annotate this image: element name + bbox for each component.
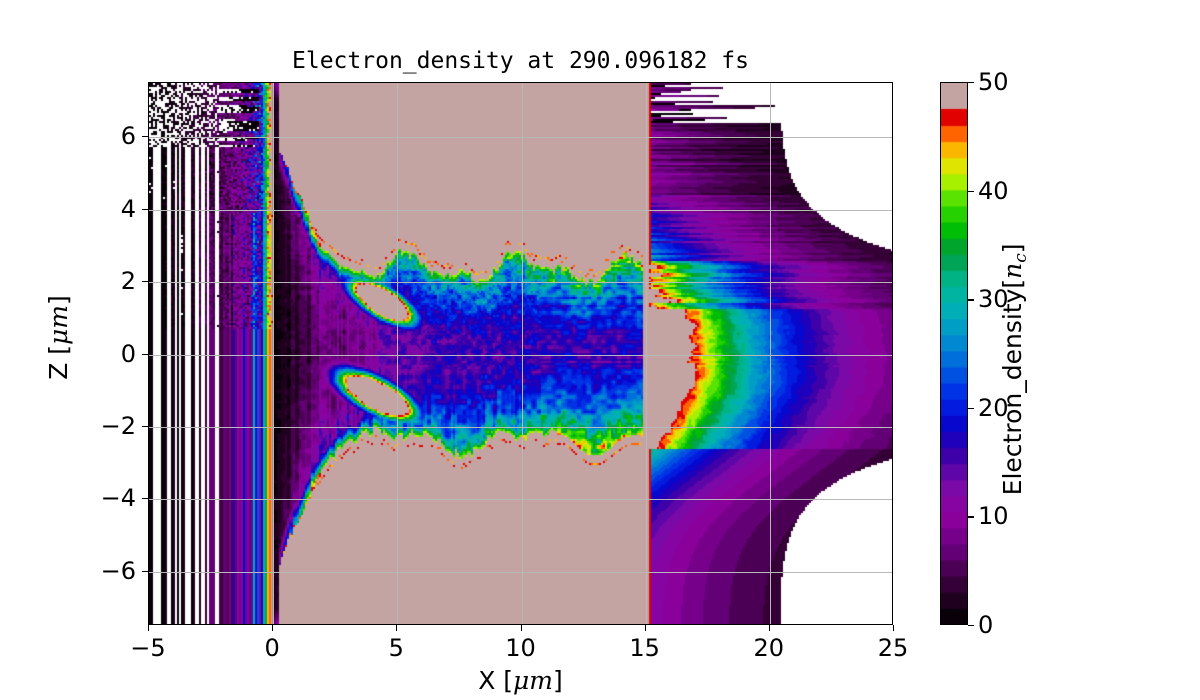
colorbar-tick-mark: [968, 82, 974, 83]
y-tick-mark: [142, 281, 148, 282]
colorbar-label: Electron_density[nc]: [998, 98, 1031, 641]
colorbar-label-symbol: n: [998, 263, 1027, 279]
colorbar-label-subscript: c: [1011, 253, 1031, 263]
x-tick-label: 20: [754, 634, 785, 662]
y-tick-mark: [142, 426, 148, 427]
colorbar-tick-label: 50: [978, 68, 1009, 96]
y-tick-label: 4: [121, 195, 136, 223]
y-tick-label: 6: [121, 122, 136, 150]
y-tick-label: 2: [121, 267, 136, 295]
y-tick-label: 0: [121, 340, 136, 368]
y-axis-label-text: Z [: [44, 345, 73, 380]
y-tick-label: −2: [101, 412, 136, 440]
y-tick-mark: [142, 354, 148, 355]
x-axis-label-text: X [: [478, 666, 513, 695]
density-figure: Electron_density at 290.096182 fs −50510…: [0, 0, 1200, 700]
y-axis-label-bracket: ]: [44, 295, 73, 305]
y-axis-label: Z [μm]: [44, 66, 73, 609]
x-tick-mark: [769, 625, 770, 631]
colorbar-tick-mark: [968, 516, 974, 517]
x-tick-label: 5: [389, 634, 404, 662]
x-tick-mark: [396, 625, 397, 631]
x-tick-label: 10: [505, 634, 536, 662]
x-tick-mark: [893, 625, 894, 631]
y-tick-mark: [142, 136, 148, 137]
x-tick-label: 15: [629, 634, 660, 662]
x-axis-label-bracket: ]: [553, 666, 563, 695]
y-tick-mark: [142, 571, 148, 572]
y-tick-mark: [142, 498, 148, 499]
colorbar-label-text: Electron_density[: [998, 279, 1027, 495]
colorbar-label-bracket: ]: [998, 243, 1027, 253]
x-axis-label-unit: μm: [513, 666, 553, 695]
x-tick-label: 25: [878, 634, 909, 662]
plot-axes[interactable]: [148, 82, 893, 625]
y-axis-label-unit: μm: [44, 305, 73, 345]
colorbar-gradient[interactable]: [940, 82, 968, 625]
x-tick-mark: [645, 625, 646, 631]
x-tick-label: −5: [130, 634, 165, 662]
x-tick-mark: [521, 625, 522, 631]
colorbar-tick-mark: [968, 299, 974, 300]
y-tick-mark: [142, 209, 148, 210]
colorbar-tick-mark: [968, 191, 974, 192]
colorbar-tick-label: 0: [978, 611, 993, 639]
page-title: Electron_density at 290.096182 fs: [148, 48, 893, 74]
y-tick-label: −4: [101, 484, 136, 512]
colorbar-tick-mark: [968, 625, 974, 626]
x-tick-label: 0: [265, 634, 280, 662]
colorbar-tick-mark: [968, 408, 974, 409]
x-axis-label: X [μm]: [148, 666, 893, 695]
y-tick-label: −6: [101, 557, 136, 585]
colorbar[interactable]: [940, 82, 968, 625]
x-tick-mark: [272, 625, 273, 631]
x-tick-mark: [148, 625, 149, 631]
electron-density-heatmap[interactable]: [149, 83, 893, 625]
